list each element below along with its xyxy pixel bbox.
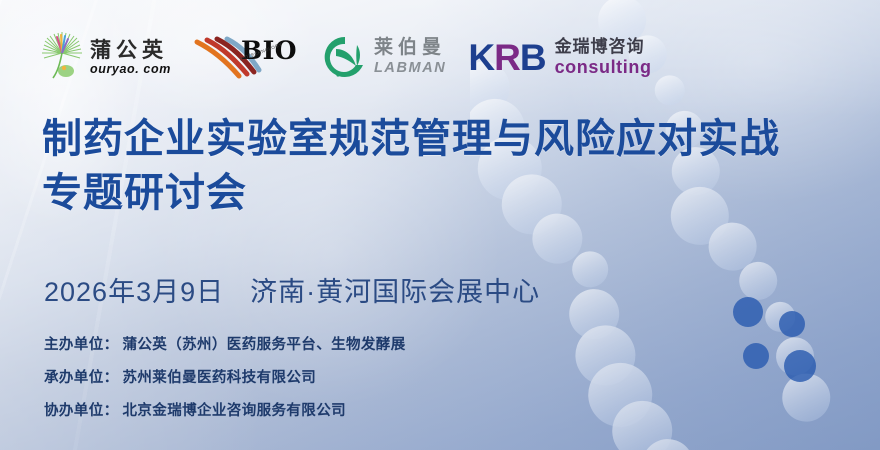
organizer-row-coorganizer: 协办单位： 北京金瑞博企业咨询服务有限公司 [44,399,406,420]
event-venue: 济南·黄河国际会展中心 [250,270,540,309]
organizer-label-coorganizer: 协办单位： [44,399,119,420]
organizer-value-coorganizer: 北京金瑞博企业咨询服务有限公司 [123,399,347,420]
labman-cn-name: 莱伯曼 [374,38,446,57]
organizer-label-host: 主办单位： [44,333,119,354]
headline-line-1: 制药企业实验室规范管理与风险应对实战 [42,112,848,166]
event-date: 2026年3月9日 [44,270,224,309]
banner-headline: 制药企业实验室规范管理与风险应对实战 专题研讨会 [42,112,848,220]
ouryao-cn-name: 蒲公英 [90,39,171,60]
organizer-value-host: 蒲公英（苏州）医药服务平台、生物发酵展 [123,333,406,354]
molecule-cluster-graphic [700,282,840,402]
sponsor-logo-strip: 蒲公英 ouryao. com BIO BIOTECHNOLOGY [40,26,652,88]
organizer-label-undertaker: 承办单位： [44,366,119,387]
krb-letter-r: R [494,37,520,78]
krb-name-block: 金瑞博咨询 consulting [555,38,652,76]
logo-krb: KRB 金瑞博咨询 consulting [468,28,651,86]
krb-en-name: consulting [555,58,652,76]
labman-en-name: LABMAN [374,61,446,76]
labman-leaf-icon [323,35,367,79]
organizer-value-undertaker: 苏州莱伯曼医药科技有限公司 [123,366,317,387]
dandelion-icon [40,31,86,83]
organizer-list: 主办单位： 蒲公英（苏州）医药服务平台、生物发酵展 承办单位： 苏州莱伯曼医药科… [44,333,406,420]
krb-cn-name: 金瑞博咨询 [555,38,652,55]
logo-bio: BIO BIOTECHNOLOGY [193,32,301,82]
logo-ouryao: 蒲公英 ouryao. com [40,28,171,86]
logo-labman: 莱伯曼 LABMAN [323,28,446,86]
krb-wordmark-icon: KRB [468,39,545,76]
event-date-venue: 2026年3月9日 济南·黄河国际会展中心 [44,270,540,309]
ouryao-domain: ouryao. com [90,63,171,76]
labman-wordmark: 莱伯曼 LABMAN [374,38,446,76]
organizer-row-host: 主办单位： 蒲公英（苏州）医药服务平台、生物发酵展 [44,333,406,354]
organizer-row-undertaker: 承办单位： 苏州莱伯曼医药科技有限公司 [44,366,406,387]
krb-letter-k: K [468,37,494,78]
krb-letter-b: B [520,37,546,78]
ouryao-wordmark: 蒲公英 ouryao. com [90,39,171,76]
headline-line-2: 专题研讨会 [42,166,848,220]
conference-banner: 蒲公英 ouryao. com BIO BIOTECHNOLOGY [0,0,880,450]
